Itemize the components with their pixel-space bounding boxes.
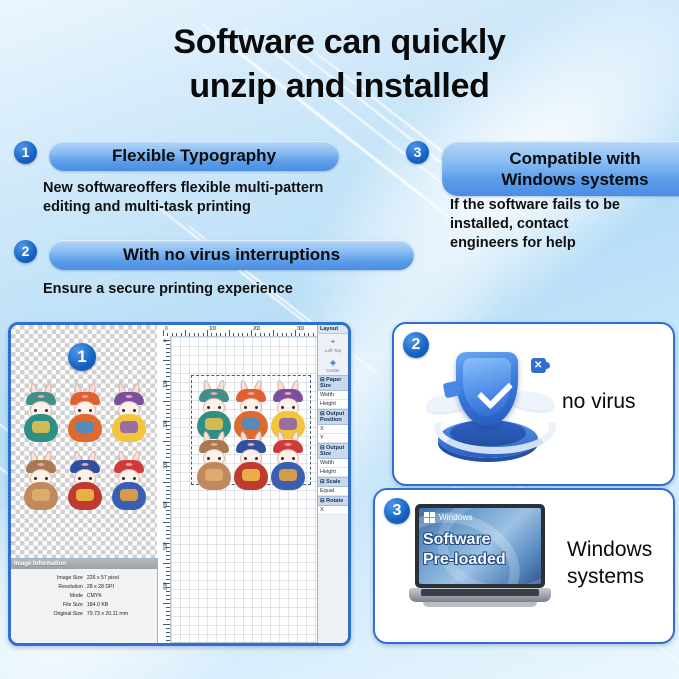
image-information-table: Image Size226 x 57 pixelResolution28 x 2… [11,574,157,619]
ruler-tick [163,360,170,361]
windows-glyph-icon [424,512,435,523]
tool-group-row[interactable]: X [318,506,348,515]
tool-group-header[interactable]: ⊟ Scale [318,477,348,487]
ruler-label: 400 [163,502,169,509]
ruler-tick [163,482,170,483]
feature-1-desc-line-1: New softwareoffers flexible multi-patter… [43,179,403,198]
sticker-decor [32,421,50,433]
thumbnail-pane[interactable]: 1 [11,325,158,559]
ruler-label: 0 [163,340,169,342]
laptop-screen: Windows Software Pre-loaded [419,508,541,584]
feature-2-title-pill[interactable]: With no virus interruptions [49,240,414,270]
headline-line-2: unzip and installed [0,64,679,108]
sticker-decor [279,418,297,430]
feature-3-title-pill[interactable]: Compatible with Windows systems [442,141,679,196]
image-info-value: 226 x 57 pixel [87,574,157,583]
ruler-label: 100 [163,381,169,388]
sticker-mouth [38,463,45,466]
windows-systems-label: Windows systems [567,536,652,590]
image-info-value: CMYK [87,592,157,601]
no-virus-card[interactable]: 2 ✕ no virus [392,322,675,486]
feature-3-desc-line-3: engineers for help [450,234,679,253]
feature-1-title-pill[interactable]: Flexible Typography [49,141,339,171]
image-info-key: Original Size [11,610,87,619]
tool-group-header[interactable]: ⊟ Output Position [318,409,348,425]
sticker-decor [242,469,260,481]
image-info-key: Mode [11,592,87,601]
feature-1-title: Flexible Typography [112,146,276,166]
ruler-label: 100 [209,326,216,332]
sticker-mouth [126,395,133,398]
feature-3-title-line-1: Compatible with [509,148,640,169]
ruler-label: 0 [165,326,167,332]
sticker-decor [32,489,50,501]
feature-3-desc-line-2: installed, contact [450,215,679,234]
windows-systems-card[interactable]: 3 Windows Software Pre-loaded [373,488,675,644]
tool-group-row[interactable]: Height [318,400,348,409]
feature-3-badge: 3 [406,141,429,164]
sticker-decor [120,421,138,433]
sticker-thumbnail [196,380,231,429]
image-info-key: File Size [11,601,87,610]
sticker-thumbnail [271,380,306,429]
ruler-label: 600 [163,583,169,590]
feature-2-description: Ensure a secure printing experience [43,280,403,299]
image-information-panel: Image Information Image Size226 x 57 pix… [11,558,158,643]
sticker-mouth [247,392,254,395]
sticker-mouth [285,392,292,395]
laptop-lid: Windows Software Pre-loaded [415,504,545,588]
headline-line-1: Software can quickly [0,20,679,64]
no-virus-label: no virus [562,388,636,415]
sticker-thumbnail [21,451,61,513]
tool-panel-tool1-label: Left Top [318,348,348,355]
align-left-top-icon[interactable]: ⌖ [318,334,348,348]
image-info-value: 79.73 x 20.11 mm [87,610,157,619]
tool-panel-tool2-label: Center [318,368,348,375]
ruler-label: 300 [163,462,169,469]
sticker-thumbnail [65,383,105,445]
shield-inner [463,358,511,416]
windows-label-line-2: systems [567,563,652,590]
vertical-ruler: 0100200300400500600 [157,336,171,643]
windows-card-badge: 3 [384,498,410,524]
thumbnail-grid [21,383,149,513]
ruler-tick [163,603,170,604]
tool-group-row[interactable]: Equal [318,487,348,496]
ruler-label: 300 [297,326,304,332]
feature-3-title-line-2: Windows systems [501,169,648,190]
sticker-decor [205,418,223,430]
sticker-mouth [82,463,89,466]
tool-group-header[interactable]: ⊟ Output Size [318,443,348,459]
ruler-tick [163,563,170,564]
sticker-thumbnail [21,383,61,445]
sticker-decor [279,469,297,481]
canvas-sticker-grid [196,380,306,480]
puzzle-piece-icon [443,381,461,399]
laptop-base [409,588,551,602]
sticker-decor [76,421,94,433]
software-screenshot-card[interactable]: 1 0100200300 0100200300400500600 Layout … [8,322,351,646]
sticker-thumbnail [233,380,268,429]
feature-2-title: With no virus interruptions [123,245,340,265]
windows-brand-label: Windows [439,513,473,522]
software-card-badge: 1 [68,343,96,371]
ruler-label: 200 [253,326,260,332]
ruler-tick [163,441,170,442]
x-glyph: ✕ [534,360,542,371]
tool-panel-title: Layout [318,325,348,334]
feature-2-desc-line-1: Ensure a secure printing experience [43,280,403,299]
sticker-thumbnail [196,431,231,480]
ruler-tick [163,401,170,402]
ruler-tick [163,644,170,645]
image-info-key: Resolution [11,583,87,592]
image-info-row: Original Size79.73 x 20.11 mm [11,610,157,619]
ruler-label: 500 [163,543,169,550]
feature-3-desc-line-1: If the software fails to be [450,196,679,215]
laptop-foot [423,602,537,607]
image-info-value: 184.0 KB [87,601,157,610]
sticker-decor [76,489,94,501]
sticker-decor [242,418,260,430]
screen-message-line-1: Software [423,530,537,550]
ruler-tick [163,522,170,523]
tool-group-row[interactable]: X [318,425,348,434]
laptop-keyboard [421,589,539,596]
sticker-thumbnail [109,383,149,445]
sticker-decor [205,469,223,481]
sticker-thumbnail [271,431,306,480]
tool-group-header[interactable]: ⊟ Paper Size [318,375,348,391]
ruler-tick [163,624,170,625]
page-title: Software can quickly unzip and installed [0,20,679,108]
image-information-title: Image Information [11,559,157,569]
sticker-mouth [210,392,217,395]
selection-box[interactable] [191,375,311,485]
sticker-mouth [285,443,292,446]
image-info-value: 28 x 28 DPI [87,583,157,592]
laptop-icon: Windows Software Pre-loaded [409,504,551,612]
close-x-icon: ✕ [531,358,546,373]
feature-1-desc-line-2: editing and multi-task printing [43,198,403,217]
sticker-thumbnail [233,431,268,480]
sticker-mouth [247,443,254,446]
sticker-thumbnail [109,451,149,513]
design-canvas[interactable] [170,336,318,643]
tool-group-row[interactable]: Y [318,434,348,443]
windows-label-line-1: Windows [567,536,652,563]
feature-2-badge: 2 [14,240,37,263]
shield-check-icon: ✕ [430,342,548,462]
ruler-label: 200 [163,421,169,428]
image-info-row: ModeCMYK [11,592,157,601]
sticker-mouth [38,395,45,398]
feature-3-description: If the software fails to be installed, c… [450,196,679,253]
windows-logo: Windows [424,512,473,523]
screen-message-line-2: Pre-loaded [423,550,537,570]
checkmark-icon [477,373,513,409]
screen-message: Software Pre-loaded [423,530,537,570]
sticker-mouth [126,463,133,466]
sticker-thumbnail [65,451,105,513]
no-virus-card-badge: 2 [403,332,429,358]
align-center-icon[interactable]: ◈ [318,355,348,368]
image-info-row: File Size184.0 KB [11,601,157,610]
feature-1-badge: 1 [14,141,37,164]
tool-group-header[interactable]: ⊟ Rotate [318,496,348,506]
tool-panel-groups: ⊟ Paper SizeWidthHeight⊟ Output Position… [318,375,348,515]
tool-group-row[interactable]: Height [318,468,348,477]
feature-1-description: New softwareoffers flexible multi-patter… [43,179,403,217]
poster-root: Software can quickly unzip and installed… [0,0,679,679]
image-info-key: Image Size [11,574,87,583]
shield-shape [456,352,518,426]
sticker-decor [120,489,138,501]
tool-group-row[interactable]: Width [318,391,348,400]
image-info-row: Image Size226 x 57 pixel [11,574,157,583]
tool-group-row[interactable]: Width [318,459,348,468]
sticker-mouth [210,443,217,446]
image-info-row: Resolution28 x 28 DPI [11,583,157,592]
layout-tool-panel[interactable]: Layout ⌖ Left Top ◈ Center ⊟ Paper SizeW… [317,325,348,643]
sticker-mouth [82,395,89,398]
